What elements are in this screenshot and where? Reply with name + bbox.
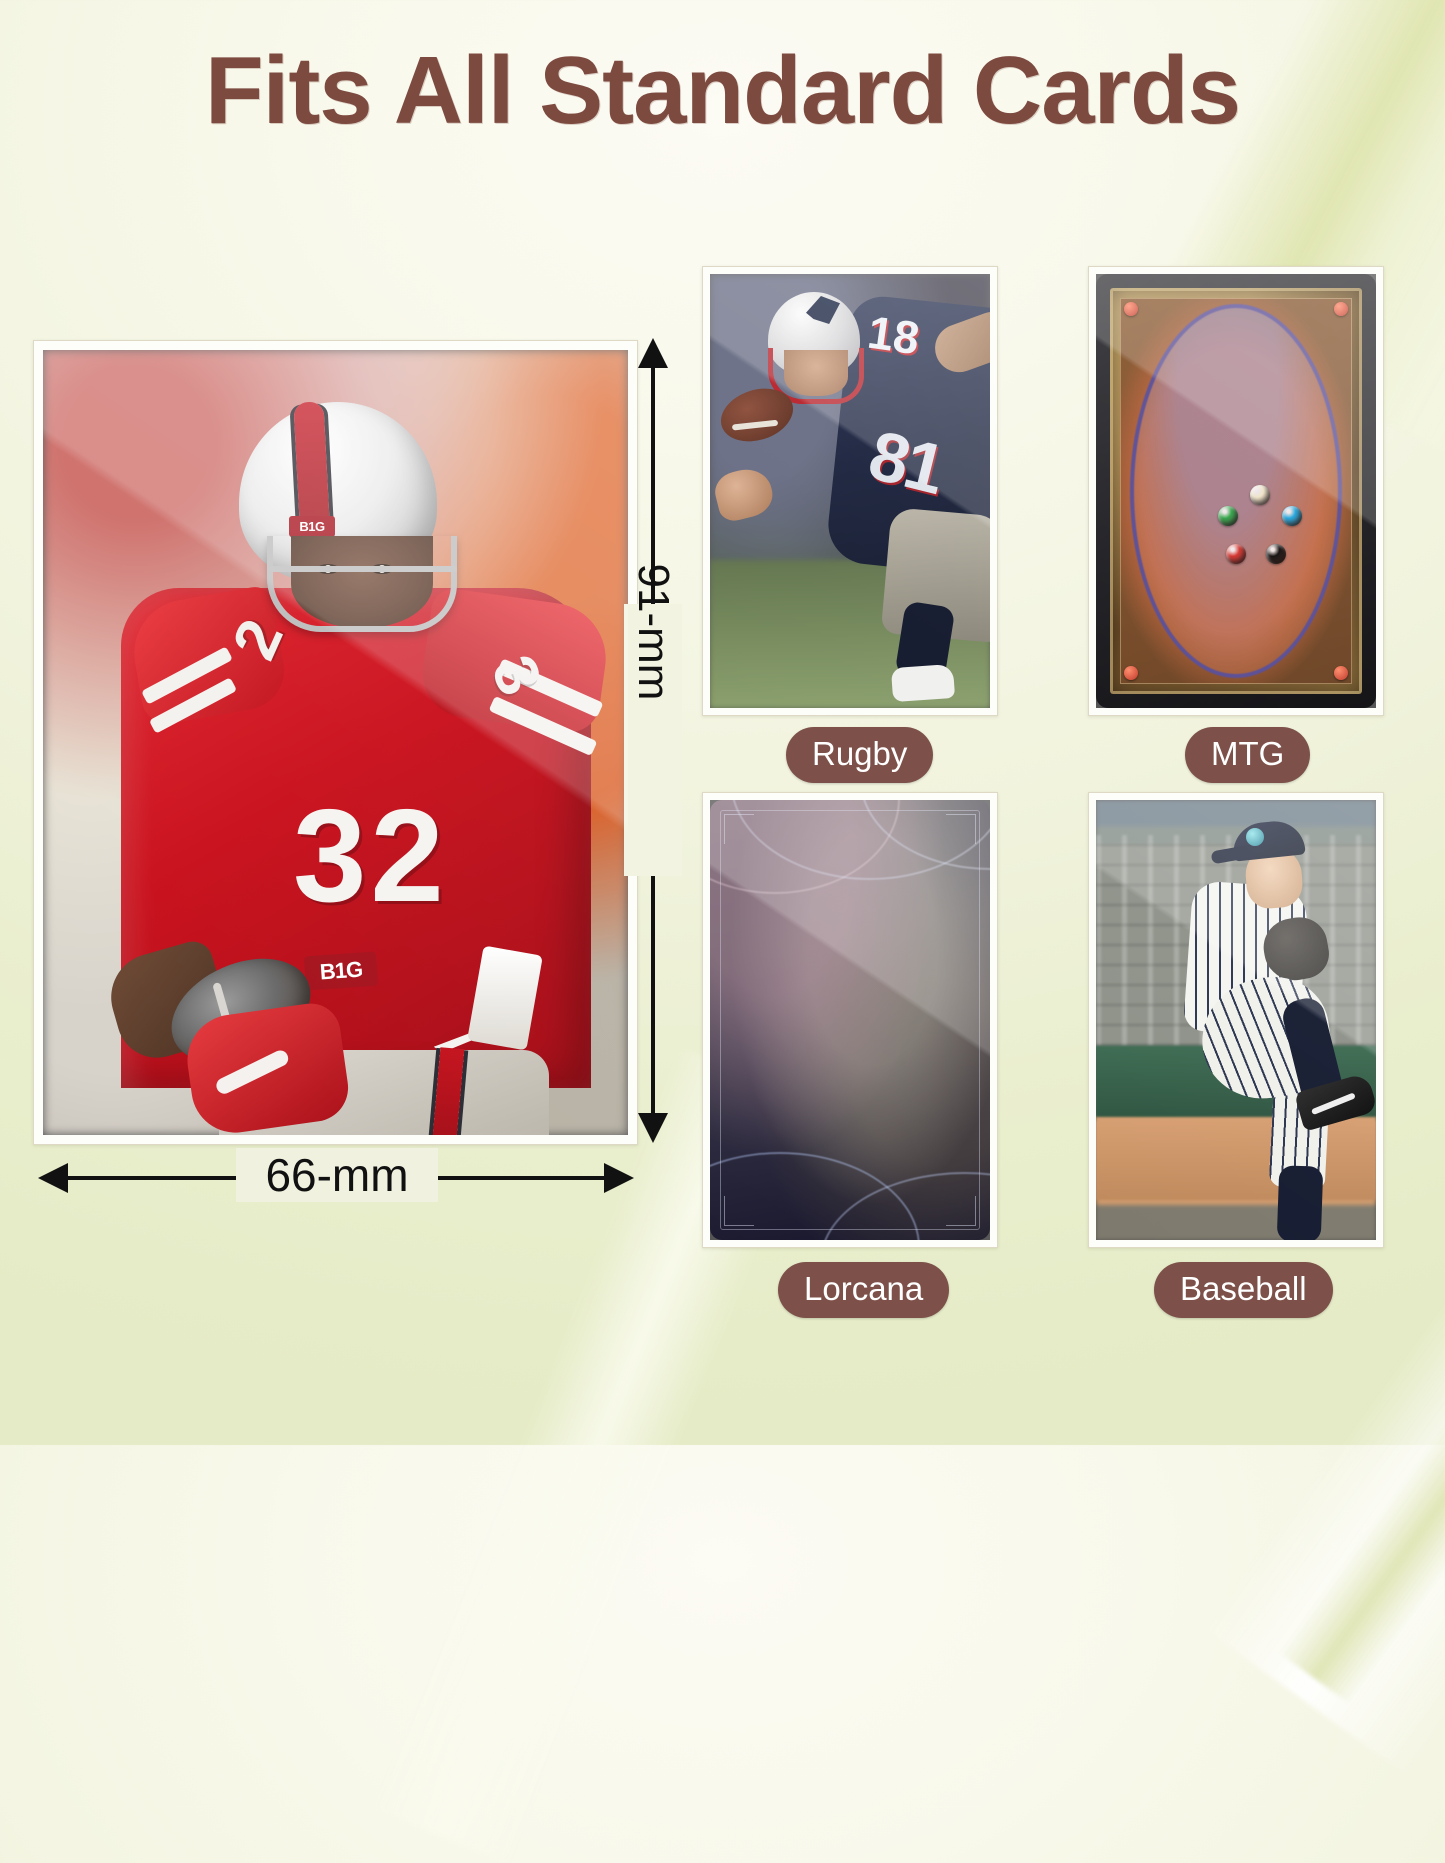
frame-corner-bottom-right bbox=[946, 1196, 976, 1226]
product-infographic: { "title": "Fits All Standard Cards", "t… bbox=[0, 0, 1445, 1445]
corner-dot-bottom-right bbox=[1334, 666, 1348, 680]
black-mana-pip bbox=[1266, 544, 1286, 564]
frame-corner-top-right bbox=[946, 814, 976, 844]
card-sleeve-rugby: 18 81 bbox=[702, 266, 998, 716]
card-sleeve-football: 2 3 B1G 32 B1G bbox=[33, 340, 638, 1145]
card-sleeve-lorcana bbox=[702, 792, 998, 1248]
card-label-rugby: Rugby bbox=[786, 727, 933, 783]
card-face-lorcana bbox=[710, 800, 990, 1240]
corner-dot-bottom-left bbox=[1124, 666, 1138, 680]
player-shoe bbox=[891, 664, 955, 702]
frame-corner-top-left bbox=[724, 814, 754, 844]
mana-oval bbox=[1130, 304, 1342, 678]
cap-logo-icon bbox=[1246, 828, 1264, 846]
helmet-conference-badge: B1G bbox=[289, 516, 335, 537]
red-mana-pip bbox=[1226, 544, 1246, 564]
page-title: Fits All Standard Cards bbox=[0, 36, 1445, 146]
jersey-number: 32 bbox=[293, 780, 448, 931]
card-face-football: 2 3 B1G 32 B1G bbox=[43, 350, 628, 1135]
frame-corner-bottom-left bbox=[724, 1196, 754, 1226]
width-label: 66-mm bbox=[236, 1148, 438, 1202]
arrow-head-down-icon bbox=[638, 1113, 668, 1143]
arrow-head-right-icon bbox=[604, 1163, 634, 1193]
height-dimension-arrow: 91-mm bbox=[646, 338, 660, 1143]
player-sock-planted bbox=[1277, 1165, 1324, 1240]
infield-dirt bbox=[1096, 1117, 1376, 1201]
card-sleeve-mtg bbox=[1088, 266, 1384, 716]
green-mana-pip bbox=[1218, 506, 1238, 526]
corner-dot-top-right bbox=[1334, 302, 1348, 316]
card-sleeve-baseball bbox=[1088, 792, 1384, 1248]
card-face-mtg bbox=[1096, 274, 1376, 708]
corner-dot-top-left bbox=[1124, 302, 1138, 316]
chest-conference-badge: B1G bbox=[304, 952, 378, 991]
jersey-number-top: 18 bbox=[864, 305, 922, 366]
card-inner-frame bbox=[720, 810, 980, 1230]
blue-mana-pip bbox=[1282, 506, 1302, 526]
white-mana-pip bbox=[1250, 485, 1270, 505]
helmet-facemask bbox=[267, 536, 457, 632]
card-face-rugby: 18 81 bbox=[710, 274, 990, 708]
card-label-lorcana: Lorcana bbox=[778, 1262, 949, 1318]
card-face-baseball bbox=[1096, 800, 1376, 1240]
card-label-mtg: MTG bbox=[1185, 727, 1310, 783]
card-label-baseball: Baseball bbox=[1154, 1262, 1333, 1318]
width-dimension-arrow: 66-mm bbox=[38, 1160, 634, 1196]
height-label: 91-mm bbox=[631, 547, 675, 717]
